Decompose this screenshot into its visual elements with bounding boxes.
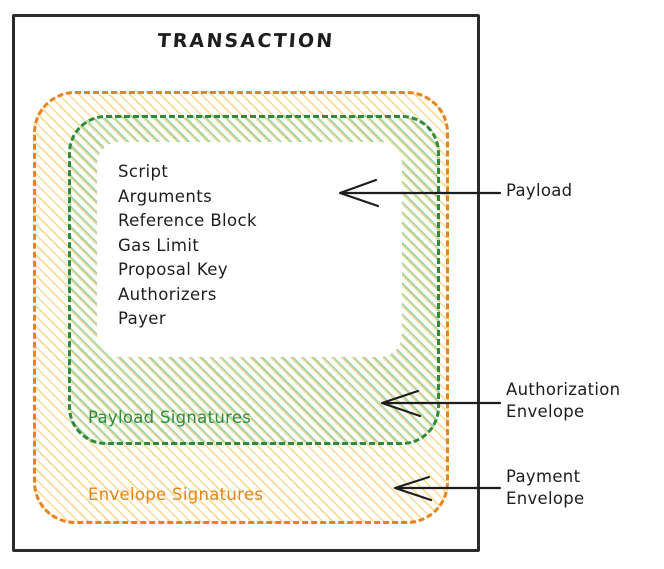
list-item: Script: [118, 160, 378, 185]
list-item: Authorizers: [118, 283, 378, 308]
annotation-label-authorization-envelope: Authorization Envelope: [506, 379, 620, 423]
payload-field-list: Script Arguments Reference Block Gas Lim…: [118, 160, 378, 332]
list-item: Reference Block: [118, 209, 378, 234]
list-item: Arguments: [118, 185, 378, 210]
diagram-canvas: TRANSACTION Script Arguments Reference B…: [0, 0, 664, 569]
payload-signatures-label: Payload Signatures: [88, 408, 251, 427]
list-item: Payer: [118, 307, 378, 332]
annotation-label-payload: Payload: [506, 180, 572, 202]
page-title: TRANSACTION: [11, 30, 481, 52]
envelope-signatures-label: Envelope Signatures: [88, 485, 263, 504]
list-item: Proposal Key: [118, 258, 378, 283]
list-item: Gas Limit: [118, 234, 378, 259]
annotation-label-payment-envelope: Payment Envelope: [506, 466, 585, 510]
